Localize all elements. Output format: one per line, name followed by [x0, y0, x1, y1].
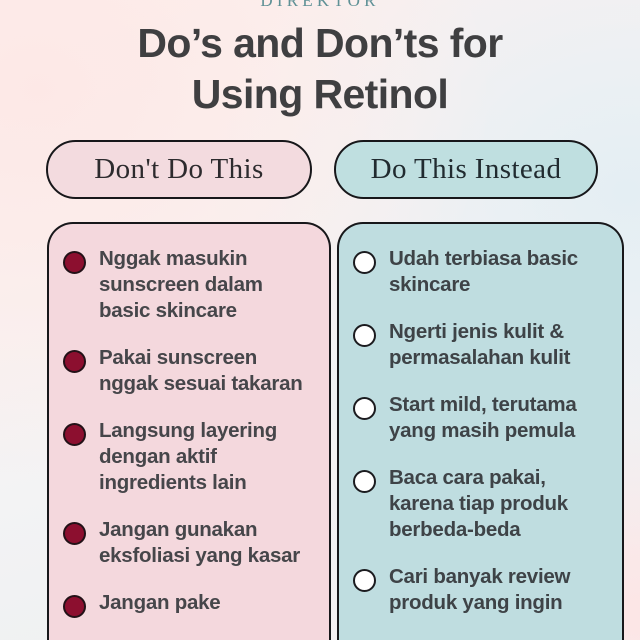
page-title: Do’s and Don’ts for Using Retinol: [0, 18, 640, 120]
do-this-instead-panel: Udah terbiasa basic skincare Ngerti jeni…: [337, 222, 624, 640]
list-item-label: Udah terbiasa basic skincare: [389, 246, 610, 298]
hollow-circle-icon: [353, 324, 376, 347]
list-item: Cari banyak review produk yang ingin: [353, 564, 610, 616]
header-pill-dont: Don't Do This: [46, 140, 312, 199]
dont-do-this-list: Nggak masukin sunscreen dalam basic skin…: [49, 246, 329, 639]
list-item-label: Nggak masukin sunscreen dalam basic skin…: [99, 246, 317, 324]
hollow-circle-icon: [353, 251, 376, 274]
page-title-line-1: Do’s and Don’ts for: [0, 18, 640, 69]
filled-circle-icon: [63, 423, 86, 446]
header-pill-dont-label: Don't Do This: [94, 155, 263, 184]
list-item: Jangan pake: [63, 590, 317, 618]
brand-wordmark: DIREKTOR: [260, 0, 379, 9]
list-item: Udah terbiasa basic skincare: [353, 246, 610, 298]
list-item: Ngerti jenis kulit & permasalahan kulit: [353, 319, 610, 371]
list-item-label: Langsung layering dengan aktif ingredien…: [99, 418, 317, 496]
hollow-circle-icon: [353, 470, 376, 493]
hollow-circle-icon: [353, 569, 376, 592]
list-item-label: Baca cara pakai, karena tiap produk berb…: [389, 465, 610, 543]
list-item-label: Ngerti jenis kulit & permasalahan kulit: [389, 319, 610, 371]
list-item: Start mild, terutama yang masih pemula: [353, 392, 610, 444]
list-item: Nggak masukin sunscreen dalam basic skin…: [63, 246, 317, 324]
filled-circle-icon: [63, 251, 86, 274]
hollow-circle-icon: [353, 397, 376, 420]
list-item-label: Start mild, terutama yang masih pemula: [389, 392, 610, 444]
list-item: Jangan gunakan eksfoliasi yang kasar: [63, 517, 317, 569]
list-item-label: Jangan gunakan eksfoliasi yang kasar: [99, 517, 317, 569]
filled-circle-icon: [63, 522, 86, 545]
header-pill-do: Do This Instead: [334, 140, 598, 199]
list-item-label: Pakai sunscreen nggak sesuai takaran: [99, 345, 317, 397]
filled-circle-icon: [63, 595, 86, 618]
header-pill-do-label: Do This Instead: [371, 155, 562, 184]
list-item: Langsung layering dengan aktif ingredien…: [63, 418, 317, 496]
dont-do-this-panel: Nggak masukin sunscreen dalam basic skin…: [47, 222, 331, 640]
infographic-canvas: DIREKTOR Do’s and Don’ts for Using Retin…: [0, 0, 640, 640]
filled-circle-icon: [63, 350, 86, 373]
list-item-label: Jangan pake: [99, 590, 220, 616]
do-this-instead-list: Udah terbiasa basic skincare Ngerti jeni…: [339, 246, 622, 637]
page-title-line-2: Using Retinol: [0, 69, 640, 120]
list-item: Pakai sunscreen nggak sesuai takaran: [63, 345, 317, 397]
list-item-label: Cari banyak review produk yang ingin: [389, 564, 610, 616]
brand-wordmark-strip: DIREKTOR: [0, 0, 640, 9]
list-item: Baca cara pakai, karena tiap produk berb…: [353, 465, 610, 543]
